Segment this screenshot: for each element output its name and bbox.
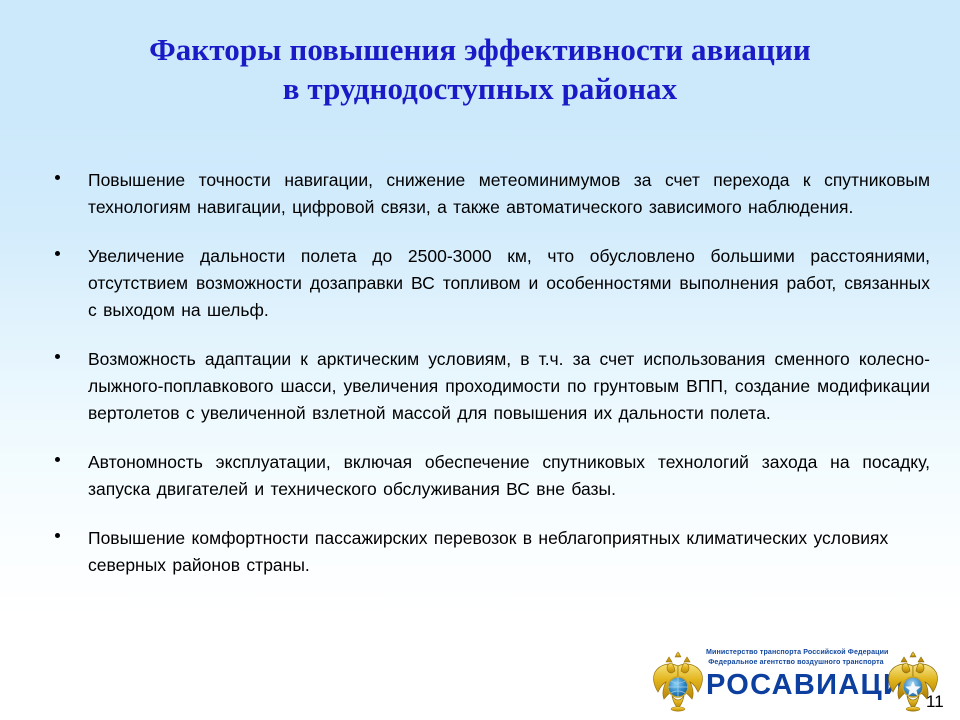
slide-canvas: Факторы повышения эффективности авиации … [0, 0, 960, 720]
page-number: 11 [926, 692, 944, 712]
russian-federation-eagle-icon [648, 650, 708, 712]
list-item: Автономность эксплуатации, включая обесп… [50, 449, 930, 503]
bullet-dot-icon [55, 457, 60, 462]
bullet-text: Повышение комфортности пассажирских пере… [88, 525, 930, 579]
footer-logo-bar: Министерство транспорта Российской Федер… [0, 642, 960, 720]
ministry-line-2: Федеральное агентство воздушного транспо… [706, 658, 886, 668]
rosaviatsia-wordmark: Министерство транспорта Российской Федер… [706, 648, 886, 702]
bullet-text: Возможность адаптации к арктическим усло… [88, 346, 930, 427]
list-item: Увеличение дальности полета до 2500-3000… [50, 243, 930, 324]
bullet-dot-icon [55, 354, 60, 359]
bullet-text: Повышение точности навигации, снижение м… [88, 167, 930, 221]
bullet-text: Автономность эксплуатации, включая обесп… [88, 449, 930, 503]
bullet-dot-icon [55, 533, 60, 538]
bullet-list: Повышение точности навигации, снижение м… [50, 167, 930, 579]
bullet-dot-icon [55, 251, 60, 256]
page-title: Факторы повышения эффективности авиации … [60, 30, 900, 108]
list-item: Повышение комфортности пассажирских пере… [50, 525, 930, 579]
ministry-line-1: Министерство транспорта Российской Федер… [706, 648, 886, 658]
rosaviatsia-brand-text: РОСАВИАЦИЯ [706, 669, 886, 702]
title-line-1: Факторы повышения эффективности авиации [60, 30, 900, 69]
bullet-dot-icon [55, 175, 60, 180]
title-line-2: в труднодоступных районах [60, 69, 900, 108]
list-item: Повышение точности навигации, снижение м… [50, 167, 930, 221]
list-item: Возможность адаптации к арктическим усло… [50, 346, 930, 427]
bullet-text: Увеличение дальности полета до 2500-3000… [88, 243, 930, 324]
